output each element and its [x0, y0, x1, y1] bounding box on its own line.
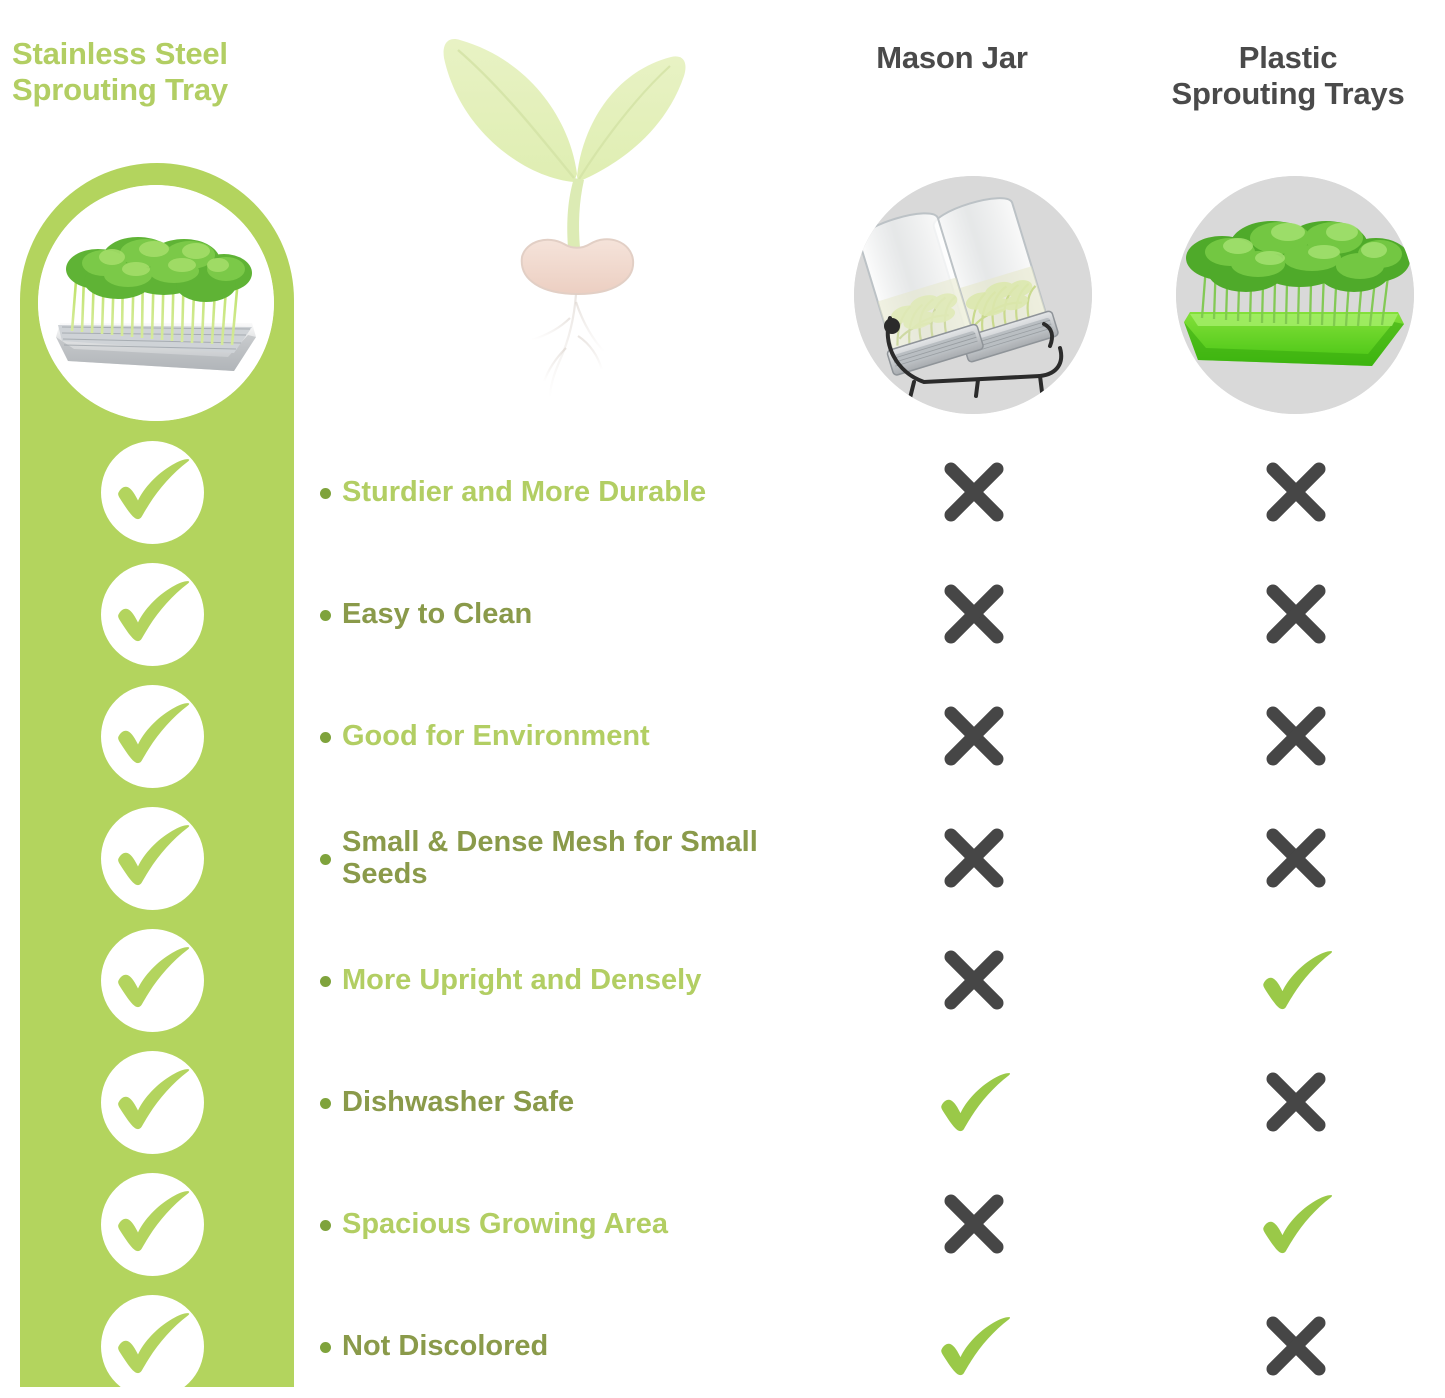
cross-icon	[1264, 826, 1328, 890]
cross-icon	[1264, 460, 1328, 524]
feature-row: More Upright and Densely	[320, 956, 820, 1004]
feature-check-circle	[101, 441, 204, 544]
cross-icon	[1264, 1314, 1328, 1378]
feature-row: Good for Environment	[320, 712, 820, 760]
stainless-steel-tray-photo	[38, 185, 274, 421]
feature-label: Easy to Clean	[342, 598, 820, 630]
bullet-icon	[320, 854, 331, 865]
bullet-icon	[320, 1220, 331, 1231]
feature-check-circle	[101, 807, 204, 910]
page-title-line1: Stainless Steel	[12, 36, 342, 72]
cross-icon	[942, 582, 1006, 646]
cross-icon	[1264, 582, 1328, 646]
bullet-icon	[320, 488, 331, 499]
bullet-icon	[320, 1098, 331, 1109]
feature-row: Not Discolored	[320, 1322, 820, 1370]
cross-icon	[1264, 1070, 1328, 1134]
feature-check-circle	[101, 685, 204, 788]
bullet-icon	[320, 976, 331, 987]
feature-check-circle	[101, 1051, 204, 1154]
feature-row: Dishwasher Safe	[320, 1078, 820, 1126]
cross-icon	[942, 1192, 1006, 1256]
feature-label: Sturdier and More Durable	[342, 476, 820, 508]
cross-icon	[1264, 704, 1328, 768]
check-icon	[1260, 950, 1324, 1014]
feature-label: Good for Environment	[342, 720, 820, 752]
check-icon	[938, 1072, 1002, 1136]
check-icon	[938, 1316, 1002, 1380]
feature-row: Small & Dense Mesh for Small Seeds	[320, 834, 820, 882]
page-title: Stainless Steel Sprouting Tray	[12, 36, 342, 109]
feature-label: Small & Dense Mesh for Small Seeds	[342, 826, 820, 891]
feature-check-circle	[101, 1173, 204, 1276]
comparison-infographic: Stainless Steel Sprouting Tray	[0, 0, 1445, 1395]
column-header-plastic-trays-line2: Sprouting Trays	[1138, 76, 1438, 112]
seedling-watermark-icon	[398, 0, 728, 412]
cross-icon	[942, 948, 1006, 1012]
bullet-icon	[320, 610, 331, 621]
feature-label: Spacious Growing Area	[342, 1208, 820, 1240]
column-header-plastic-trays: Plastic Sprouting Trays	[1138, 40, 1438, 113]
feature-row: Sturdier and More Durable	[320, 468, 820, 516]
cross-icon	[942, 826, 1006, 890]
feature-check-circle	[101, 929, 204, 1032]
feature-check-circle	[101, 1295, 204, 1398]
feature-check-circle	[101, 563, 204, 666]
bullet-icon	[320, 1342, 331, 1353]
page-title-line2: Sprouting Tray	[12, 72, 342, 108]
feature-row: Easy to Clean	[320, 590, 820, 638]
feature-label: Dishwasher Safe	[342, 1086, 820, 1118]
column-header-mason-jar: Mason Jar	[832, 40, 1072, 76]
bullet-icon	[320, 732, 331, 743]
cross-icon	[942, 704, 1006, 768]
mason-jar-photo	[854, 176, 1092, 414]
feature-row: Spacious Growing Area	[320, 1200, 820, 1248]
column-header-mason-jar-line1: Mason Jar	[832, 40, 1072, 76]
cross-icon	[942, 460, 1006, 524]
column-header-plastic-trays-line1: Plastic	[1138, 40, 1438, 76]
plastic-tray-photo	[1176, 176, 1414, 414]
check-icon	[1260, 1194, 1324, 1258]
feature-label: More Upright and Densely	[342, 964, 820, 996]
feature-label: Not Discolored	[342, 1330, 820, 1362]
